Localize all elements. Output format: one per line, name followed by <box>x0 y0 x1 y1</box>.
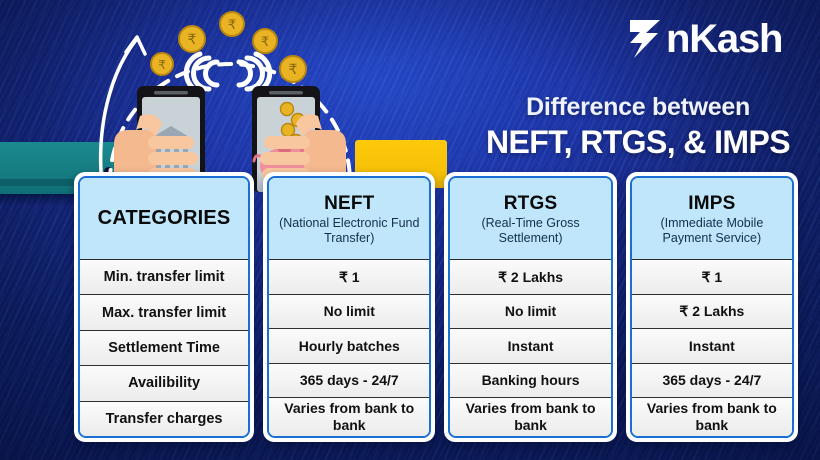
column-header-categories: CATEGORIES <box>80 178 248 260</box>
row-label-min-transfer-limit: Min. transfer limit <box>80 260 248 295</box>
enkash-rupee-mark <box>624 16 664 62</box>
enkash-logo-text: nKash <box>666 16 782 62</box>
table-column-imps: IMPS (Immediate Mobile Payment Service) … <box>626 172 798 442</box>
column-header-rtgs: RTGS (Real-Time Gross Settlement) <box>450 178 610 260</box>
cell-neft-availibility: 365 days - 24/7 <box>269 364 429 399</box>
svg-text:₹: ₹ <box>261 34 269 49</box>
row-label-availibility: Availibility <box>80 366 248 401</box>
column-subtitle: (Immediate Mobile Payment Service) <box>638 216 786 246</box>
svg-text:₹: ₹ <box>289 61 298 77</box>
cell-imps-max-transfer-limit: ₹ 2 Lakhs <box>632 295 792 330</box>
table-column-rtgs: RTGS (Real-Time Gross Settlement) ₹ 2 La… <box>444 172 616 442</box>
cell-imps-min-transfer-limit: ₹ 1 <box>632 260 792 295</box>
row-label-transfer-charges: Transfer charges <box>80 402 248 436</box>
table-column-categories: CATEGORIES Min. transfer limit Max. tran… <box>74 172 254 442</box>
cell-neft-transfer-charges: Varies from bank to bank <box>269 398 429 436</box>
cell-rtgs-availibility: Banking hours <box>450 364 610 399</box>
svg-text:₹: ₹ <box>188 31 197 47</box>
cell-imps-availibility: 365 days - 24/7 <box>632 364 792 399</box>
rupee-coin-icon: ₹ ₹ ₹ ₹ ₹ <box>151 12 306 82</box>
cell-imps-transfer-charges: Varies from bank to bank <box>632 398 792 436</box>
row-label-max-transfer-limit: Max. transfer limit <box>80 295 248 330</box>
cell-neft-settlement-time: Hourly batches <box>269 329 429 364</box>
svg-text:₹: ₹ <box>158 58 166 72</box>
cell-neft-max-transfer-limit: No limit <box>269 295 429 330</box>
column-header-imps: IMPS (Immediate Mobile Payment Service) <box>632 178 792 260</box>
page-title: NEFT, RTGS, & IMPS <box>462 123 814 161</box>
cell-imps-settlement-time: Instant <box>632 329 792 364</box>
column-title: IMPS <box>688 192 735 215</box>
cell-rtgs-settlement-time: Instant <box>450 329 610 364</box>
cell-neft-min-transfer-limit: ₹ 1 <box>269 260 429 295</box>
cell-rtgs-min-transfer-limit: ₹ 2 Lakhs <box>450 260 610 295</box>
svg-text:₹: ₹ <box>228 17 236 32</box>
column-title: RTGS <box>504 192 558 215</box>
comparison-table: CATEGORIES Min. transfer limit Max. tran… <box>74 172 798 442</box>
column-subtitle: (National Electronic Fund Transfer) <box>275 216 423 246</box>
table-column-neft: NEFT (National Electronic Fund Transfer)… <box>263 172 435 442</box>
column-subtitle: (Real-Time Gross Settlement) <box>456 216 604 246</box>
column-title: NEFT <box>324 192 374 215</box>
payment-illustration: ₹ ₹ ₹ ₹ ₹ <box>96 0 364 192</box>
row-label-settlement-time: Settlement Time <box>80 331 248 366</box>
cell-rtgs-transfer-charges: Varies from bank to bank <box>450 398 610 436</box>
cell-rtgs-max-transfer-limit: No limit <box>450 295 610 330</box>
enkash-logo[interactable]: nKash <box>624 16 782 62</box>
title-line-1: Difference between <box>462 92 814 122</box>
column-title: CATEGORIES <box>98 207 231 230</box>
title-block: Difference between NEFT, RTGS, & IMPS <box>462 92 814 161</box>
column-header-neft: NEFT (National Electronic Fund Transfer) <box>269 178 429 260</box>
